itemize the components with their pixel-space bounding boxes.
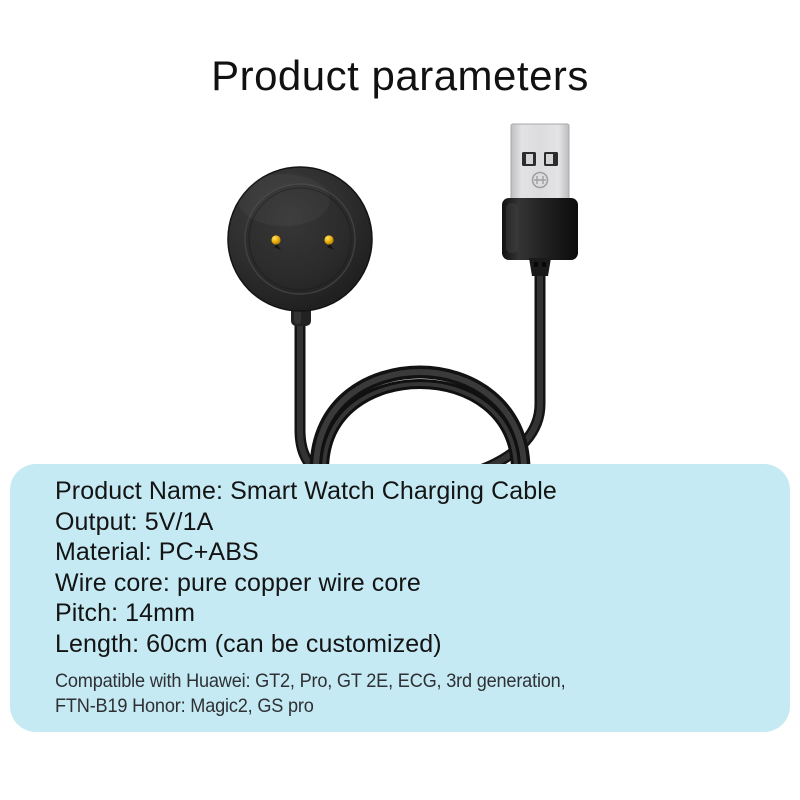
product-detail-image: Product parameters [0, 0, 800, 800]
compatibility-line-1: Compatible with Huawei: GT2, Pro, GT 2E,… [55, 669, 725, 694]
spec-line-wire-core: Wire core: pure copper wire core [55, 568, 765, 599]
product-photo [0, 0, 800, 480]
spec-line-material: Material: PC+ABS [55, 537, 765, 568]
spec-line-product-name: Product Name: Smart Watch Charging Cable [55, 476, 765, 507]
charging-puck-group [228, 167, 372, 326]
compatibility-line-2: FTN-B19 Honor: Magic2, GS pro [55, 694, 725, 719]
compatibility-block: Compatible with Huawei: GT2, Pro, GT 2E,… [55, 669, 775, 719]
spec-line-length: Length: 60cm (can be customized) [55, 629, 765, 660]
spec-panel: Product Name: Smart Watch Charging Cable… [10, 464, 790, 732]
spec-line-pitch: Pitch: 14mm [55, 598, 765, 629]
usb-a-connector-group [502, 124, 578, 276]
spec-list: Product Name: Smart Watch Charging Cable… [55, 476, 765, 659]
spec-line-output: Output: 5V/1A [55, 507, 765, 538]
